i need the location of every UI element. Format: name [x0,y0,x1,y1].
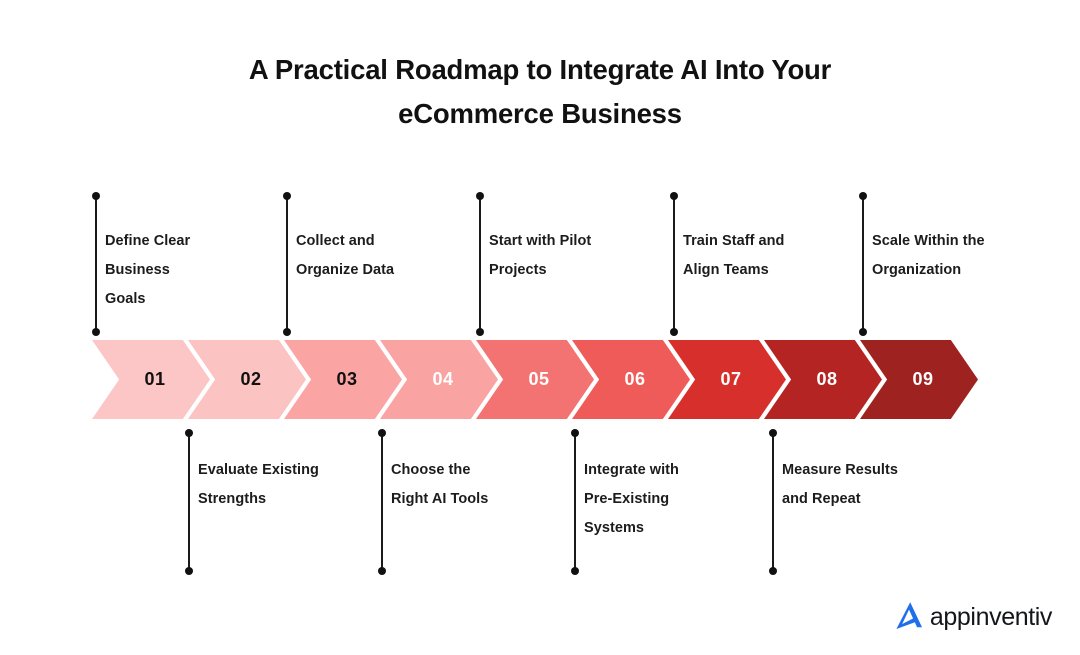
connector-dot-top [92,192,100,200]
chevron-number-09: 09 [912,369,933,390]
connector-step-09 [862,196,864,332]
connector-dot-bottom [92,328,100,336]
connector-step-07 [673,196,675,332]
step-label-08: Measure Results and Repeat [782,456,977,514]
connector-dot-top [476,192,484,200]
connector-step-03 [286,196,288,332]
connector-dot-top [185,429,193,437]
step-label-04: Choose the Right AI Tools [391,456,581,514]
connector-dot-top [670,192,678,200]
connector-dot-bottom [769,567,777,575]
connector-dot-bottom [378,567,386,575]
connector-step-08 [772,433,774,571]
connector-step-01 [95,196,97,332]
connector-dot-bottom [476,328,484,336]
chevron-number-02: 02 [240,369,261,390]
appinventiv-a-mark-icon [893,598,927,637]
chevron-number-01: 01 [144,369,165,390]
step-label-01: Define Clear Business Goals [105,227,290,314]
step-label-07: Train Staff and Align Teams [683,227,873,285]
appinventiv-logo[interactable]: appinventiv [893,598,1052,637]
connector-dot-bottom [670,328,678,336]
connector-dot-bottom [185,567,193,575]
chevron-number-06: 06 [624,369,645,390]
chevron-number-05: 05 [528,369,549,390]
step-label-09: Scale Within the Organization [872,227,1067,285]
connector-step-06 [574,433,576,571]
connector-dot-bottom [859,328,867,336]
step-label-03: Collect and Organize Data [296,227,481,285]
chevron-number-04: 04 [432,369,453,390]
connector-dot-top [769,429,777,437]
connector-step-02 [188,433,190,571]
connector-dot-top [283,192,291,200]
appinventiv-wordmark: appinventiv [930,603,1052,632]
chevron-number-03: 03 [336,369,357,390]
connector-dot-bottom [283,328,291,336]
chevron-number-07: 07 [720,369,741,390]
connector-step-05 [479,196,481,332]
connector-dot-top [378,429,386,437]
step-label-05: Start with Pilot Projects [489,227,674,285]
step-label-02: Evaluate Existing Strengths [198,456,388,514]
connector-dot-top [859,192,867,200]
connector-dot-top [571,429,579,437]
connector-step-04 [381,433,383,571]
connector-dot-bottom [571,567,579,575]
step-label-06: Integrate with Pre-Existing Systems [584,456,774,543]
chevron-number-08: 08 [816,369,837,390]
chevron-step-01[interactable]: 01 [92,340,210,419]
roadmap-diagram: Define Clear Business Goals Collect and … [0,0,1080,655]
